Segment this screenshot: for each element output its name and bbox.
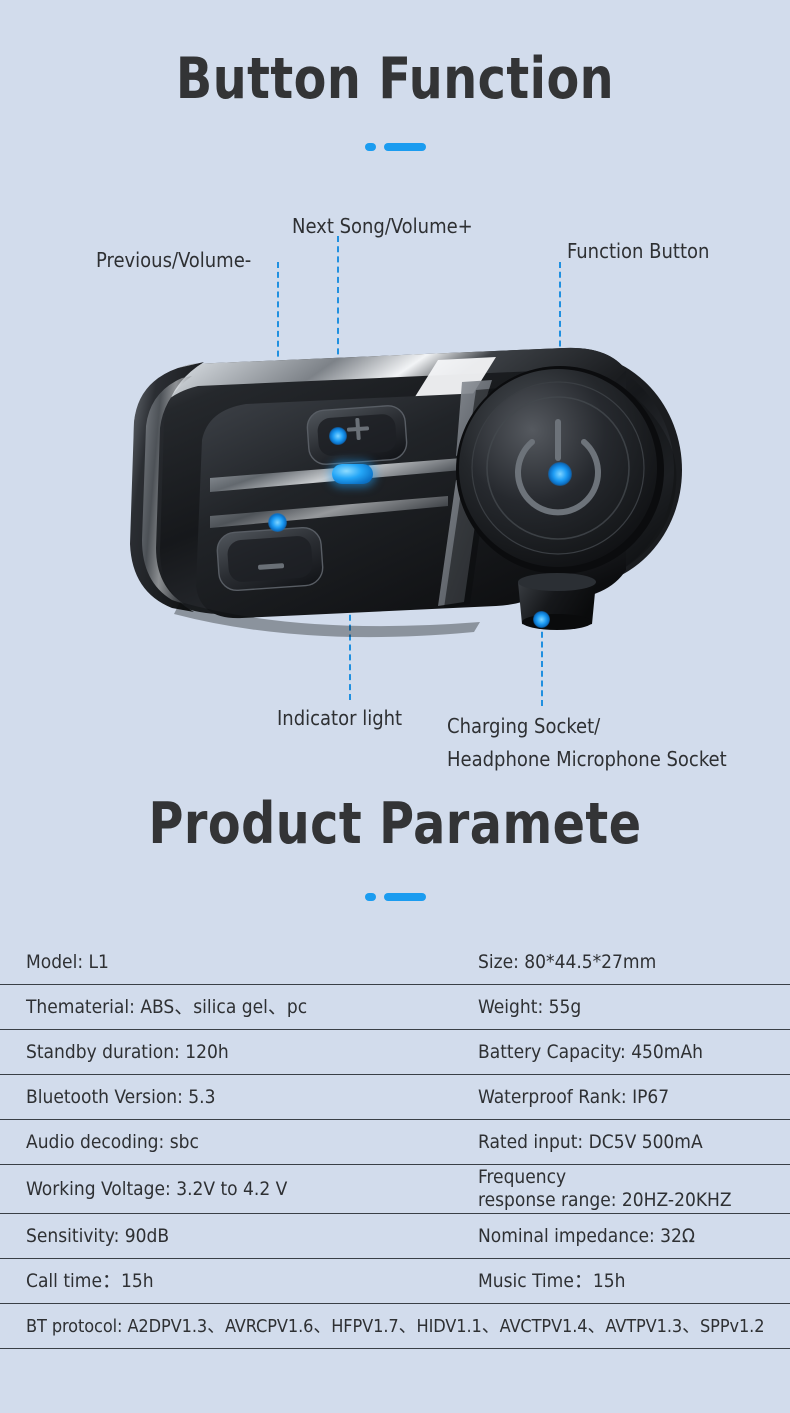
divider-dot-icon — [365, 143, 376, 151]
divider-dash-icon — [384, 143, 426, 151]
spec-table: Model: L1 Size: 80*44.5*27mm Thematerial… — [0, 940, 790, 1349]
spec-frequency-value: response range: 20HZ-20KHZ — [478, 1189, 790, 1212]
spec-model: Model: L1 — [0, 951, 440, 974]
table-row: BT protocol: A2DPV1.3、AVRCPV1.6、HFPV1.7、… — [0, 1304, 790, 1349]
spec-frequency-response: Frequency response range: 20HZ-20KHZ — [440, 1166, 790, 1212]
table-row: Thematerial: ABS、silica gel、pc Weight: 5… — [0, 985, 790, 1030]
table-row: Call time：15h Music Time：15h — [0, 1259, 790, 1304]
spec-impedance: Nominal impedance: 32Ω — [440, 1225, 790, 1248]
infographic-page: Button Function Previous/Volume- Next So… — [0, 0, 790, 1413]
spec-material: Thematerial: ABS、silica gel、pc — [0, 996, 440, 1019]
table-row: Sensitivity: 90dB Nominal impedance: 32Ω — [0, 1214, 790, 1259]
spec-waterproof: Waterproof Rank: IP67 — [440, 1086, 790, 1109]
table-row: Working Voltage: 3.2V to 4.2 V Frequency… — [0, 1165, 790, 1214]
page-title-product-parameter: Product Paramete — [28, 792, 763, 856]
table-row: Standby duration: 120h Battery Capacity:… — [0, 1030, 790, 1075]
spec-battery: Battery Capacity: 450mAh — [440, 1041, 790, 1064]
divider-dash-icon — [384, 893, 426, 901]
page-title-button-function: Button Function — [28, 47, 763, 111]
table-row: Bluetooth Version: 5.3 Waterproof Rank: … — [0, 1075, 790, 1120]
spec-size: Size: 80*44.5*27mm — [440, 951, 790, 974]
indicator-led — [332, 464, 373, 484]
spec-bt-protocol: BT protocol: A2DPV1.3、AVRCPV1.6、HFPV1.7、… — [0, 1315, 790, 1338]
spec-bluetooth: Bluetooth Version: 5.3 — [0, 1086, 440, 1109]
product-image-bluetooth-headset — [70, 330, 710, 660]
spec-working-voltage: Working Voltage: 3.2V to 4.2 V — [0, 1178, 440, 1201]
callout-indicator-light: Indicator light — [277, 705, 402, 731]
callout-charging-socket: Charging Socket/ Headphone Microphone So… — [447, 710, 777, 776]
spec-audio-decoding: Audio decoding: sbc — [0, 1131, 440, 1154]
callout-charging-socket-line2: Headphone Microphone Socket — [447, 747, 727, 771]
spec-weight: Weight: 55g — [440, 996, 790, 1019]
divider-dot-icon — [365, 893, 376, 901]
table-row: Model: L1 Size: 80*44.5*27mm — [0, 940, 790, 985]
spec-frequency-label: Frequency — [478, 1166, 790, 1189]
table-row: Audio decoding: sbc Rated input: DC5V 50… — [0, 1120, 790, 1165]
callout-previous-volume-down: Previous/Volume- — [96, 247, 251, 273]
callout-function-button: Function Button — [567, 238, 709, 264]
title-divider-2 — [0, 892, 790, 902]
spec-call-time: Call time：15h — [0, 1270, 440, 1293]
spec-standby: Standby duration: 120h — [0, 1041, 440, 1064]
callout-next-song-volume-up: Next Song/Volume+ — [292, 213, 473, 239]
spec-music-time: Music Time：15h — [440, 1270, 790, 1293]
callout-charging-socket-line1: Charging Socket/ — [447, 714, 600, 738]
title-divider-1 — [0, 142, 790, 152]
spec-sensitivity: Sensitivity: 90dB — [0, 1225, 440, 1248]
spec-rated-input: Rated input: DC5V 500mA — [440, 1131, 790, 1154]
